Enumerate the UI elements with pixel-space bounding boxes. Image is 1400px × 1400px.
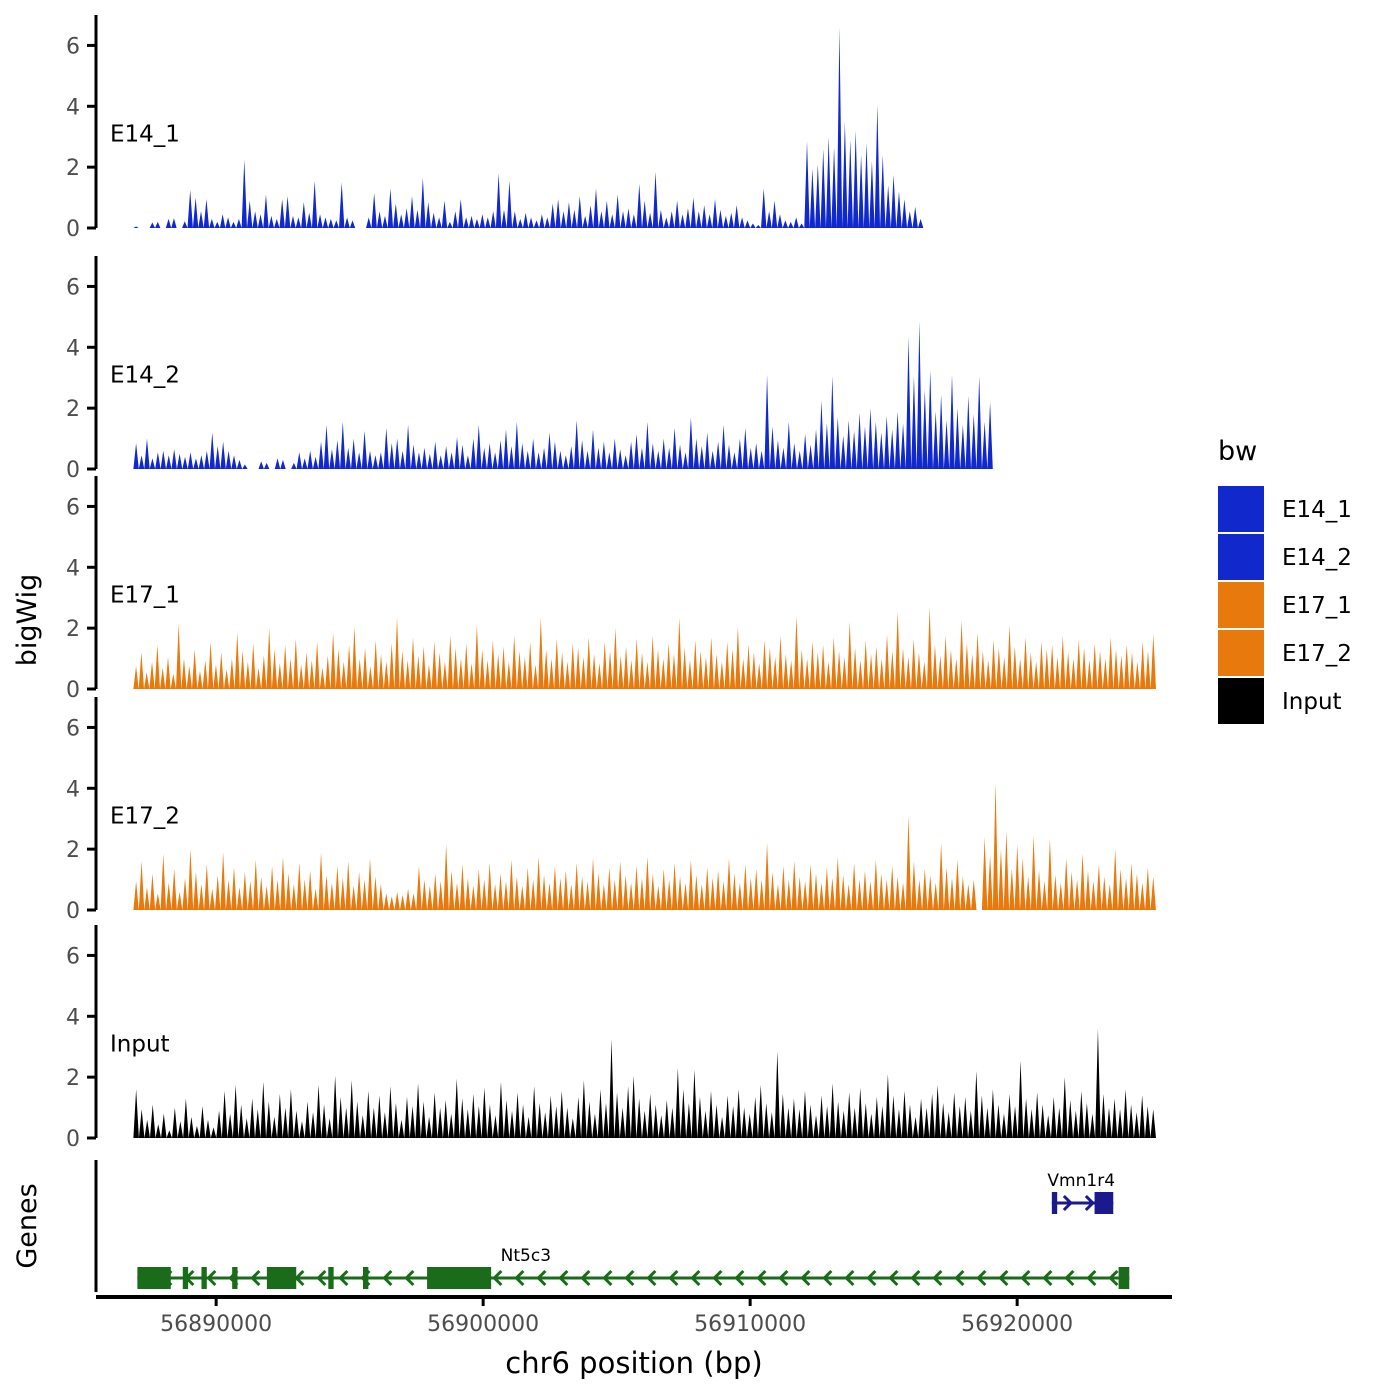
track-area-e17_2 — [133, 782, 1156, 910]
y-tick-label: 0 — [66, 458, 80, 483]
gene-label-nt5c3: Nt5c3 — [501, 1246, 551, 1266]
y-tick-label: 2 — [66, 617, 80, 642]
legend-label-e17_1: E17_1 — [1282, 593, 1352, 619]
legend-swatch-input[interactable] — [1218, 678, 1264, 724]
track-panel-input: 0246Input — [66, 925, 1156, 1152]
legend: bwE14_1E14_2E17_1E17_2Input — [1218, 436, 1352, 724]
track-panel-e17_2: 0246E17_2 — [66, 697, 1156, 924]
gene-exon — [363, 1267, 368, 1289]
genes-panel: GenesNt5c3Vmn1r4 — [12, 1160, 1129, 1292]
x-tick-label: 56890000 — [160, 1312, 272, 1337]
x-tick-label: 56900000 — [427, 1312, 539, 1337]
y-tick-label: 4 — [66, 777, 80, 802]
y-tick-label: 6 — [66, 495, 80, 520]
y-tick-label: 0 — [66, 217, 80, 242]
gene-exon — [328, 1267, 333, 1289]
track-area-input — [133, 1028, 1156, 1138]
legend-label-input: Input — [1282, 689, 1342, 715]
genes-axis-title: Genes — [12, 1183, 43, 1268]
y-tick-label: 2 — [66, 397, 80, 422]
track-area-e14_2 — [133, 321, 1156, 469]
legend-title: bw — [1218, 436, 1257, 467]
y-tick-label: 6 — [66, 716, 80, 741]
y-tick-label: 2 — [66, 838, 80, 863]
y-tick-label: 6 — [66, 275, 80, 300]
y-tick-label: 0 — [66, 1127, 80, 1152]
gene-exon — [1052, 1192, 1057, 1214]
gene-exon — [427, 1267, 491, 1289]
gene-exon — [1095, 1192, 1114, 1214]
y-tick-label: 4 — [66, 95, 80, 120]
x-tick-label: 56920000 — [961, 1312, 1073, 1337]
panel-label-e14_1: E14_1 — [110, 122, 180, 148]
legend-label-e14_2: E14_2 — [1282, 545, 1352, 571]
gene-vmn1r4[interactable]: Vmn1r4 — [1047, 1171, 1115, 1214]
legend-swatch-e17_2[interactable] — [1218, 630, 1264, 676]
y-tick-label: 4 — [66, 336, 80, 361]
y-axis-title: bigWig — [12, 574, 43, 667]
figure-canvas: 0246E14_10246E14_20246E17_10246E17_20246… — [0, 0, 1400, 1400]
y-tick-label: 4 — [66, 556, 80, 581]
panel-label-e17_1: E17_1 — [110, 583, 180, 609]
panel-label-e17_2: E17_2 — [110, 804, 180, 830]
y-tick-label: 0 — [66, 678, 80, 703]
y-tick-label: 4 — [66, 1005, 80, 1030]
gene-exon — [137, 1267, 170, 1289]
legend-swatch-e14_2[interactable] — [1218, 534, 1264, 580]
y-tick-label: 2 — [66, 1066, 80, 1091]
y-tick-label: 6 — [66, 34, 80, 59]
track-panel-e14_1: 0246E14_1 — [66, 15, 1156, 242]
panel-label-input: Input — [110, 1032, 170, 1058]
y-tick-label: 6 — [66, 944, 80, 969]
gene-exon — [232, 1267, 237, 1289]
legend-swatch-e17_1[interactable] — [1218, 582, 1264, 628]
gene-label-vmn1r4: Vmn1r4 — [1047, 1171, 1115, 1191]
legend-label-e17_2: E17_2 — [1282, 641, 1352, 667]
legend-swatch-e14_1[interactable] — [1218, 486, 1264, 532]
x-tick-label: 56910000 — [694, 1312, 806, 1337]
track-panel-e17_1: 0246E17_1 — [66, 476, 1156, 703]
gene-nt5c3[interactable]: Nt5c3 — [137, 1246, 1129, 1289]
gene-exon — [1119, 1267, 1130, 1289]
y-tick-label: 2 — [66, 156, 80, 181]
x-axis: 56890000569000005691000056920000chr6 pos… — [96, 1297, 1172, 1380]
track-area-e14_1 — [133, 27, 1156, 228]
track-area-e17_1 — [133, 607, 1156, 689]
gene-exon — [267, 1267, 296, 1289]
legend-label-e14_1: E14_1 — [1282, 497, 1352, 523]
x-axis-title: chr6 position (bp) — [505, 1346, 762, 1380]
track-panel-e14_2: 0246E14_2 — [66, 256, 1156, 483]
genome-browser-figure: 0246E14_10246E14_20246E17_10246E17_20246… — [0, 0, 1400, 1400]
y-tick-label: 0 — [66, 899, 80, 924]
gene-exon — [183, 1267, 188, 1289]
panel-label-e14_2: E14_2 — [110, 363, 180, 389]
gene-exon — [201, 1267, 206, 1289]
